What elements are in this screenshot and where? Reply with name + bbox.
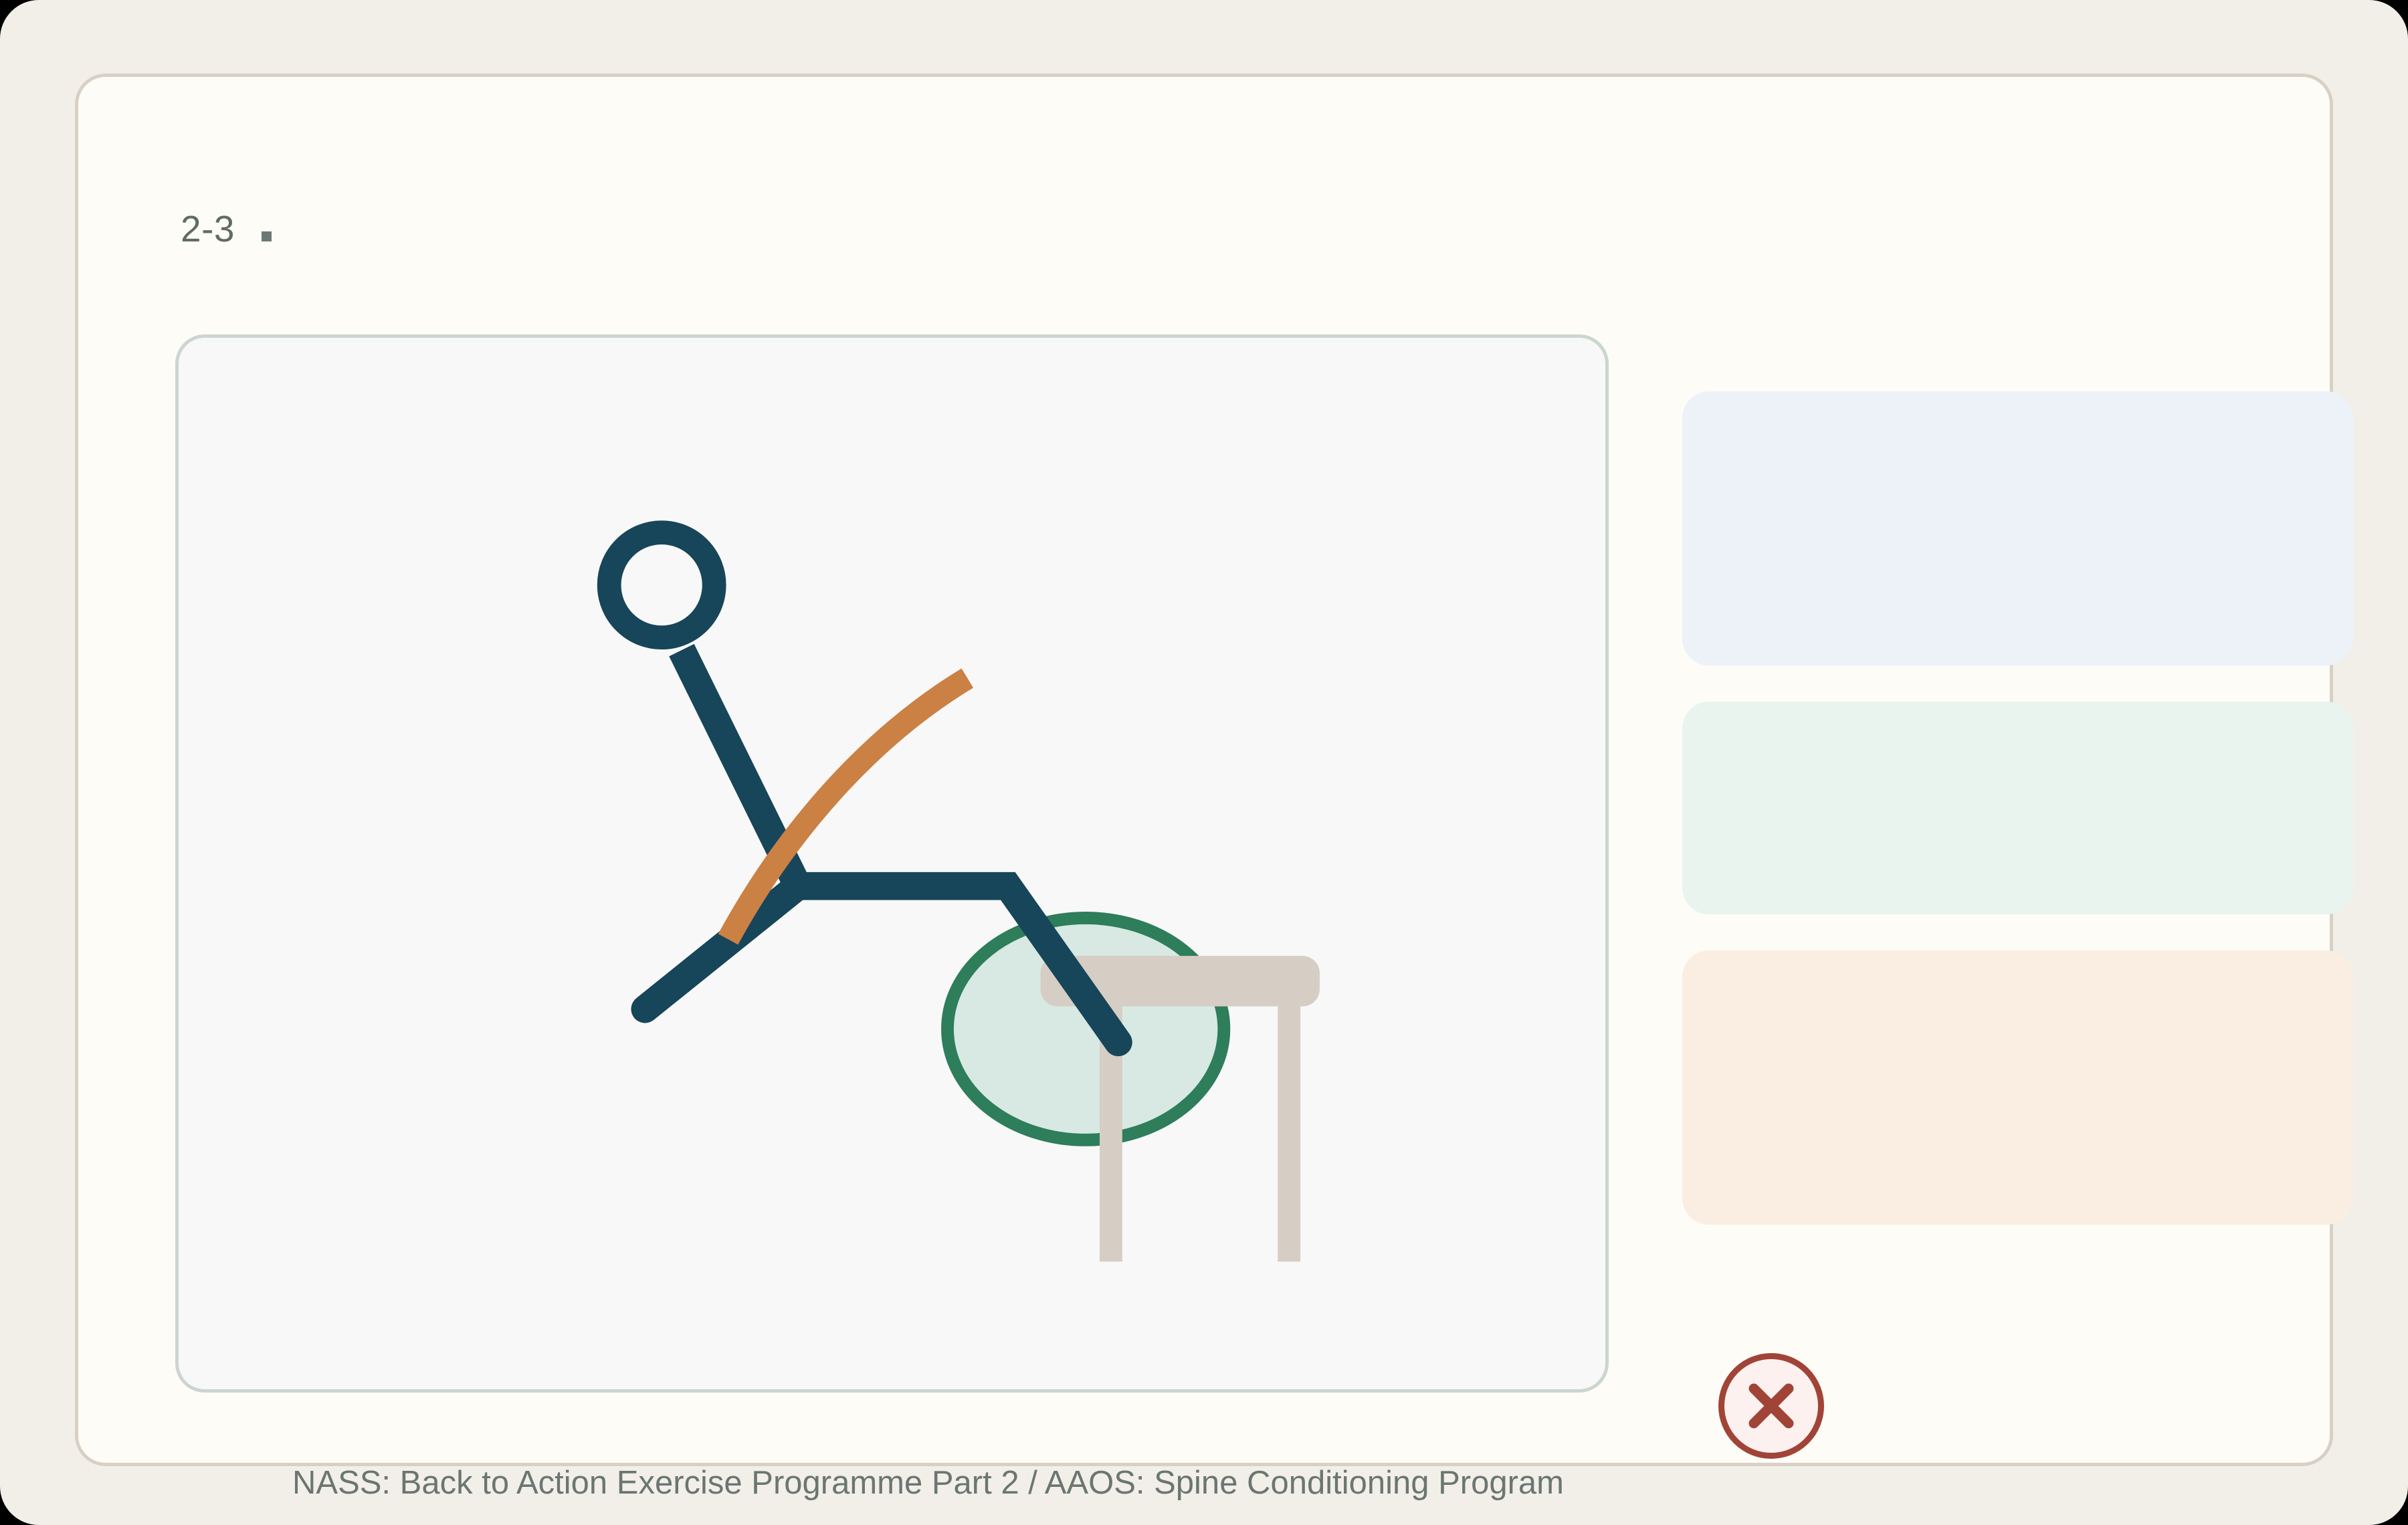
info-panel-stack [1682,391,2353,1225]
info-panel-tertiary[interactable] [1682,950,2353,1225]
close-x-icon [1742,1377,1800,1435]
bench-leg-right-icon [1278,1003,1300,1262]
exercise-ball-icon [947,918,1223,1140]
info-panel-secondary[interactable] [1682,702,2353,914]
step-range-text: 2-3 [181,211,235,247]
figure-head-icon [609,532,714,637]
illustration-panel [175,334,1609,1393]
exercise-illustration [179,338,1605,1389]
figure-arm-line [645,886,798,1009]
dismiss-button[interactable] [1718,1353,1824,1459]
exercise-card: 2-3 [75,74,2333,1466]
info-panel-primary[interactable] [1682,391,2353,666]
step-label: 2-3 [181,204,272,253]
page-surface: 2-3 [0,0,2408,1525]
source-attribution: NASS: Back to Action Exercise Programme … [292,1467,1564,1500]
step-dot-icon [262,231,272,241]
